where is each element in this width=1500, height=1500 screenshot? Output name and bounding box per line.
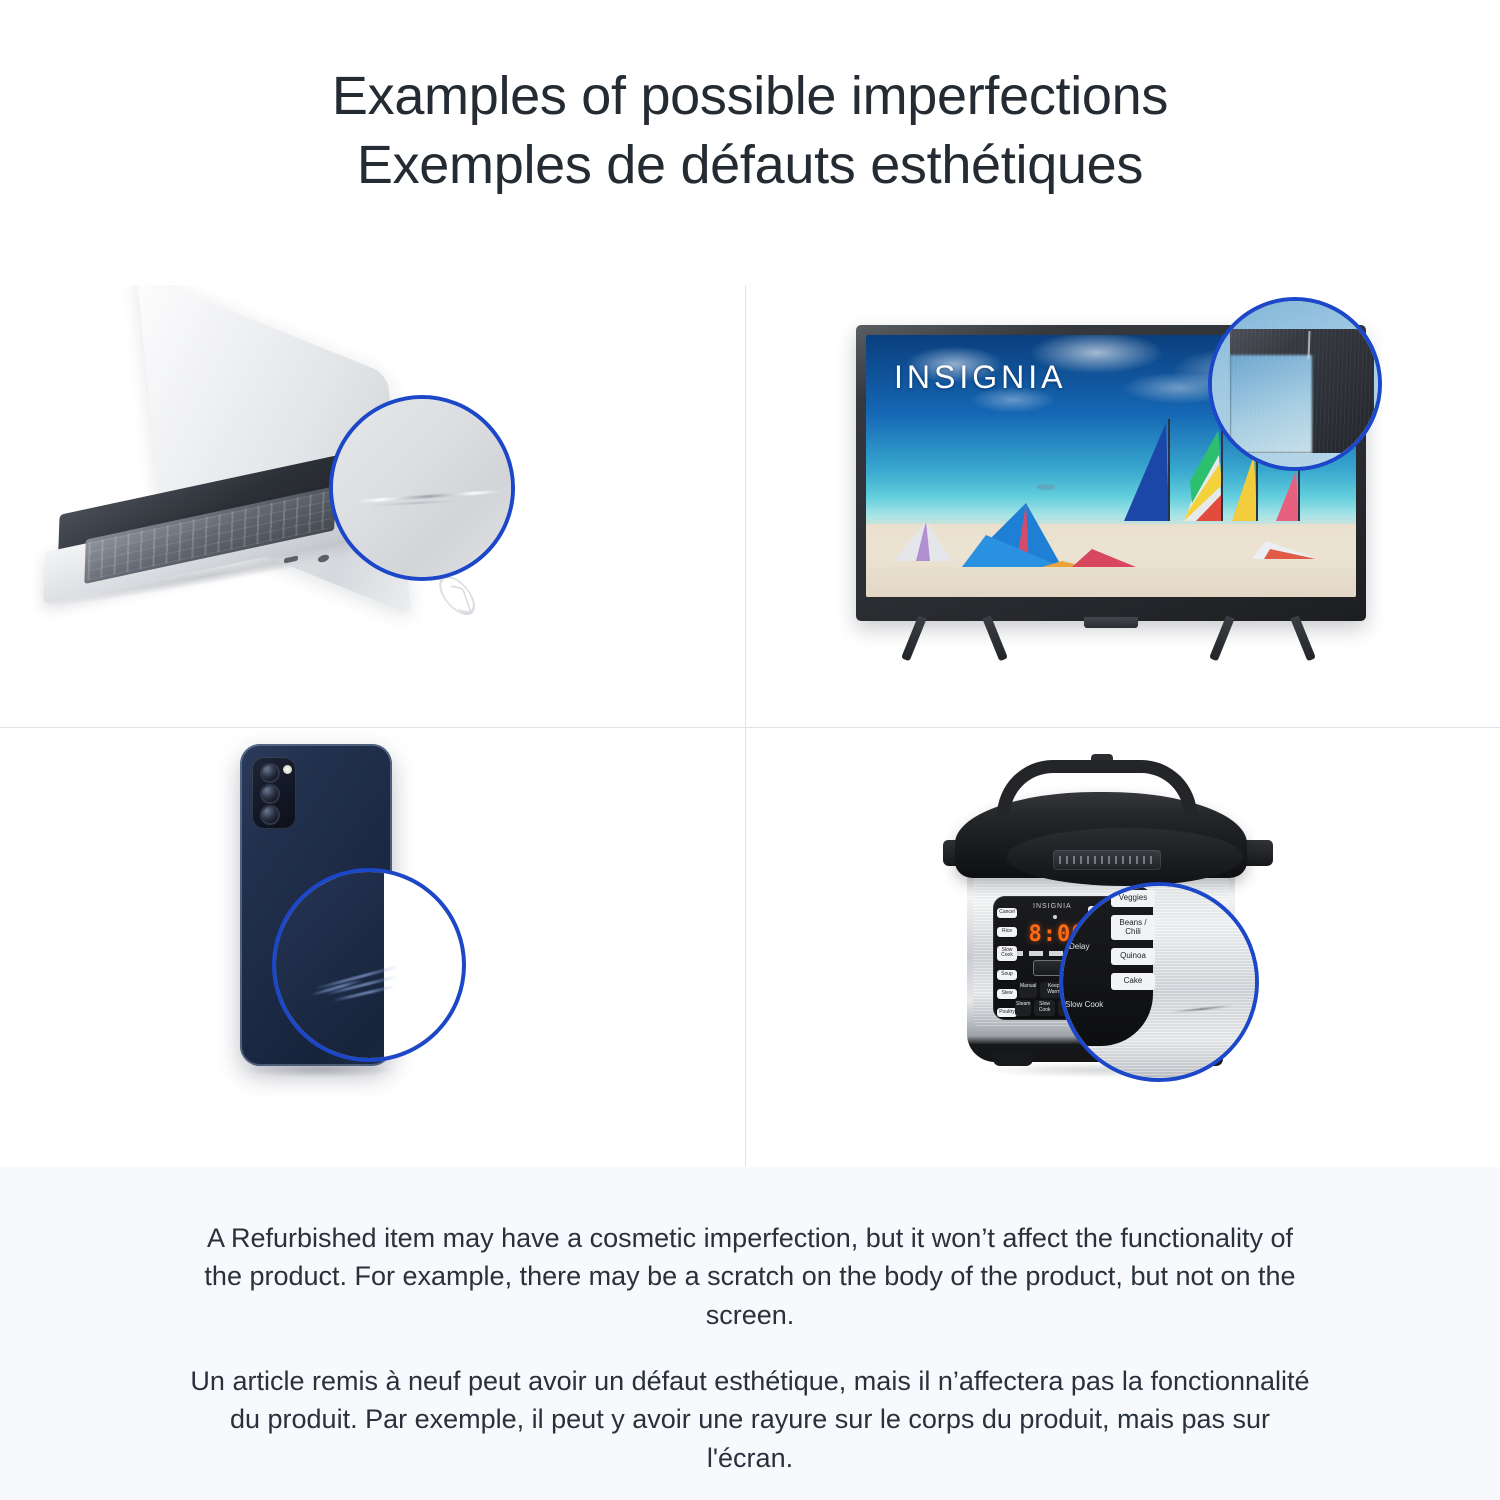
cooker-lid-handle [997, 760, 1197, 816]
cooker-button-rice[interactable]: Rice [997, 927, 1017, 937]
cooker-button-steam[interactable]: Steam [1015, 1000, 1031, 1016]
cooker-button-poultry[interactable]: Poultry [997, 1008, 1017, 1018]
television-illustration: INSIGNIA [746, 285, 1500, 727]
cooker-magnified-button-beans-chili[interactable]: Beans / Chili [1111, 915, 1155, 941]
cooker-magnified-button-column: Veggies Beans / Chili Quinoa Cake [1111, 890, 1155, 990]
tv-leg-right [1220, 617, 1310, 661]
panel-laptop [0, 285, 745, 727]
panel-television: INSIGNIA [746, 285, 1500, 727]
cooker-lid-vent-panel [1053, 850, 1161, 870]
cooker-button-slowcook-2[interactable]: Slow Cook [1034, 1000, 1054, 1016]
panel-pressure-cooker: INSIGNIA 8:00 Cancel Rice Slow Cook Soup… [746, 728, 1500, 1167]
caption-french: Un article remis à neuf peut avoir un dé… [185, 1362, 1315, 1477]
pressure-cooker-illustration: INSIGNIA 8:00 Cancel Rice Slow Cook Soup… [746, 728, 1500, 1167]
cooker-magnified-button-slow-cook[interactable]: Slow Cook [1065, 1000, 1103, 1009]
tv-leg-left [912, 617, 1002, 661]
refurbished-imperfections-infographic: Examples of possible imperfections Exemp… [0, 0, 1500, 1500]
phone-camera-lens-icon [260, 784, 280, 804]
cooker-indicator-led [1053, 915, 1057, 919]
caption-english: A Refurbished item may have a cosmetic i… [185, 1219, 1315, 1334]
laptop-magnifier-circle [329, 395, 515, 581]
tv-magnified-texture [1212, 301, 1378, 467]
page-title: Examples of possible imperfections Exemp… [0, 62, 1500, 200]
cooker-button-stew[interactable]: Stew [997, 989, 1017, 999]
cooker-left-button-column: Cancel Rice Slow Cook Soup Stew Poultry [997, 908, 1017, 1017]
laptop-magnified-surface [333, 399, 511, 577]
caption-section: A Refurbished item may have a cosmetic i… [0, 1167, 1500, 1500]
cooker-foot [993, 1052, 1033, 1066]
tv-logo-plate [1084, 617, 1138, 628]
phone-camera-lens-icon [260, 763, 280, 783]
cooker-button-cancel[interactable]: Cancel [997, 908, 1017, 918]
cooker-magnified-button-delay[interactable]: Delay [1069, 942, 1089, 951]
cooker-magnified-button-cake[interactable]: Cake [1111, 973, 1155, 990]
laptop-logo-icon [434, 572, 480, 619]
cooker-magnified-button-veggies[interactable]: Veggies [1111, 890, 1155, 907]
cooker-button-slow-cook[interactable]: Slow Cook [997, 946, 1017, 962]
phone-camera-lens-icon [260, 805, 280, 825]
title-english: Examples of possible imperfections [0, 62, 1500, 131]
cooker-button-manual[interactable]: Manual [1019, 982, 1037, 998]
smartphone-illustration [0, 728, 745, 1167]
cooker-magnifier-circle: Veggies Beans / Chili Quinoa Cake Delay … [1059, 882, 1259, 1082]
phone-camera-module [252, 757, 296, 829]
laptop-illustration [0, 285, 745, 727]
phone-flash-icon [283, 765, 292, 774]
product-example-grid: INSIGNIA [0, 285, 1500, 1167]
panel-smartphone [0, 728, 745, 1167]
phone-magnifier-circle [272, 868, 466, 1062]
tv-magnifier-circle [1208, 297, 1382, 471]
cooker-magnified-button-quinoa[interactable]: Quinoa [1111, 948, 1155, 965]
title-french: Exemples de défauts esthétiques [0, 131, 1500, 200]
cooker-button-soup[interactable]: Soup [997, 970, 1017, 980]
